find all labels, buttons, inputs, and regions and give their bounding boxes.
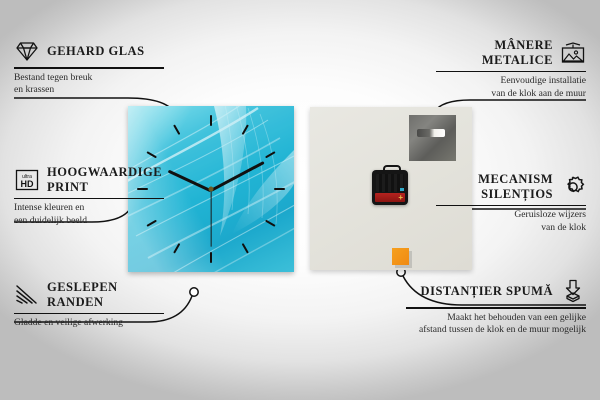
- diamond-icon: [14, 38, 40, 64]
- feature-divider: [14, 198, 164, 200]
- feature-description: Maakt het behouden van een gelijke afsta…: [406, 312, 586, 337]
- gear-icon: [560, 174, 586, 200]
- feature-head: DISTANȚIER SPUMĂ: [406, 278, 586, 304]
- feature-head: MÂNERE METALICE: [436, 38, 586, 68]
- feature-title: HOOGWAARDIGE PRINT: [47, 165, 164, 195]
- feature-divider: [406, 307, 586, 309]
- ultra-hd-icon: ultra HD: [14, 167, 40, 193]
- down-arrow-stack-icon: [560, 278, 586, 304]
- marker-geslepen-randen: [190, 288, 198, 296]
- feature-gehard-glas: GEHARD GLAS Bestand tegen breuk en krass…: [14, 38, 164, 97]
- feature-title: MÂNERE METALICE: [436, 38, 553, 68]
- battery-plus-icon: +: [398, 193, 403, 202]
- clock-center-cap: [209, 187, 214, 192]
- feature-title: MECANISM SILENȚIOS: [436, 172, 553, 202]
- feature-head: GEHARD GLAS: [14, 38, 164, 64]
- clock-hand-second: [210, 190, 211, 247]
- clock-mechanism: +: [372, 170, 408, 205]
- feature-title: DISTANȚIER SPUMĂ: [421, 284, 553, 299]
- mechanism-hook: [383, 165, 401, 174]
- feature-title: GESLEPEN RANDEN: [47, 280, 164, 310]
- feature-mecanism-silentios: MECANISM SILENȚIOS Geruisloze wijzers va…: [436, 172, 586, 234]
- feature-distantier-spuma: DISTANȚIER SPUMĂ Maakt het behouden van …: [406, 278, 586, 337]
- feature-manere-metalice: MÂNERE METALICE Eenvoudige installatie v…: [436, 38, 586, 100]
- bevelled-edges-icon: [14, 282, 40, 308]
- feature-hoogwaardige-print: ultra HD HOOGWAARDIGE PRINT Intense kleu…: [14, 165, 164, 227]
- feature-head: GESLEPEN RANDEN: [14, 280, 164, 310]
- feature-head: ultra HD HOOGWAARDIGE PRINT: [14, 165, 164, 195]
- feature-divider: [436, 71, 586, 73]
- feature-description: Intense kleuren en een duidelijk beeld: [14, 202, 164, 227]
- svg-text:HD: HD: [21, 179, 34, 189]
- feature-geslepen-randen: GESLEPEN RANDEN Gladde en veilige afwerk…: [14, 280, 164, 330]
- feature-title: GEHARD GLAS: [47, 44, 145, 59]
- feature-divider: [436, 205, 586, 207]
- foam-spacer: [392, 248, 409, 265]
- feature-divider: [14, 313, 164, 315]
- feature-description: Eenvoudige installatie van de klok aan d…: [436, 75, 586, 100]
- feature-description: Geruisloze wijzers van de klok: [436, 209, 586, 234]
- infographic-canvas: + GEHARD GLAS Bestand tegen breuk en kra…: [0, 0, 600, 400]
- feature-head: MECANISM SILENȚIOS: [436, 172, 586, 202]
- feature-description: Gladde en veilige afwerking: [14, 317, 164, 330]
- feature-divider: [14, 67, 164, 69]
- picture-hanger-icon: [560, 40, 586, 66]
- metal-hanger-plate: [409, 115, 456, 161]
- hanger-slot: [417, 129, 445, 137]
- battery: +: [375, 193, 405, 202]
- mechanism-indicator: [400, 188, 404, 191]
- feature-description: Bestand tegen breuk en krassen: [14, 72, 164, 97]
